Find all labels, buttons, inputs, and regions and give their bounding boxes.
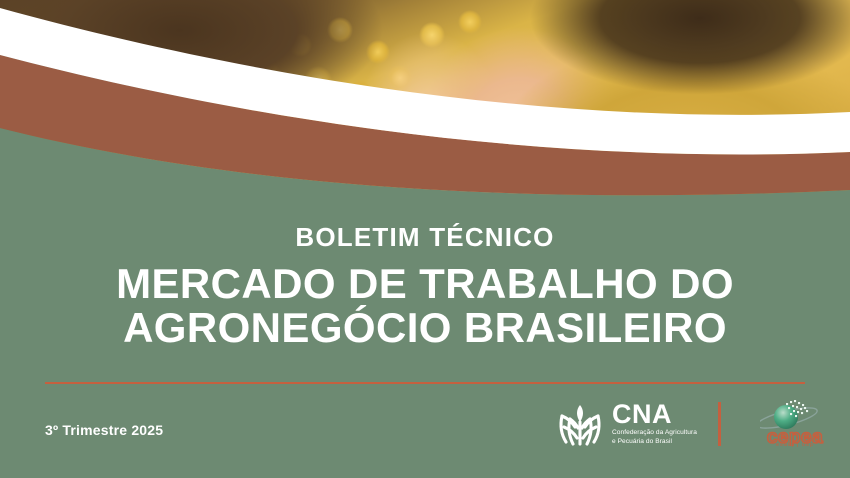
cna-subtitle-line-2: e Pecuária do Brasil [612,438,672,445]
cna-acronym: CNA [612,401,697,427]
photo-overlay [0,0,850,200]
globe-network-icon [760,398,830,432]
page-title-line-1: MERCADO DE TRABALHO DO [0,262,850,306]
logo-separator [718,402,721,446]
cepea-subtitle: esalq | usp [742,442,848,448]
logo-lockup: CNA Confederação da Agricultura e Pecuár… [556,398,850,460]
cna-subtitle-line-1: Confederação da Agricultura [612,429,697,436]
horizontal-divider [45,382,805,384]
cna-subtitle: Confederação da Agricultura e Pecuária d… [612,429,697,446]
cna-wordmark: CNA Confederação da Agricultura e Pecuár… [612,401,697,446]
page-title: MERCADO DE TRABALHO DO AGRONEGÓCIO BRASI… [0,262,850,350]
page-eyebrow: BOLETIM TÉCNICO [0,222,850,253]
cepea-logo[interactable]: cepea esalq | usp [742,398,848,458]
hero-image [0,0,850,200]
cna-logo[interactable]: CNA Confederação da Agricultura e Pecuár… [556,400,697,448]
wheat-plant-icon [556,400,604,448]
page-title-line-2: AGRONEGÓCIO BRASILEIRO [0,306,850,350]
cover-page: BOLETIM TÉCNICO MERCADO DE TRABALHO DO A… [0,0,850,478]
publication-period: 3º Trimestre 2025 [45,422,163,438]
